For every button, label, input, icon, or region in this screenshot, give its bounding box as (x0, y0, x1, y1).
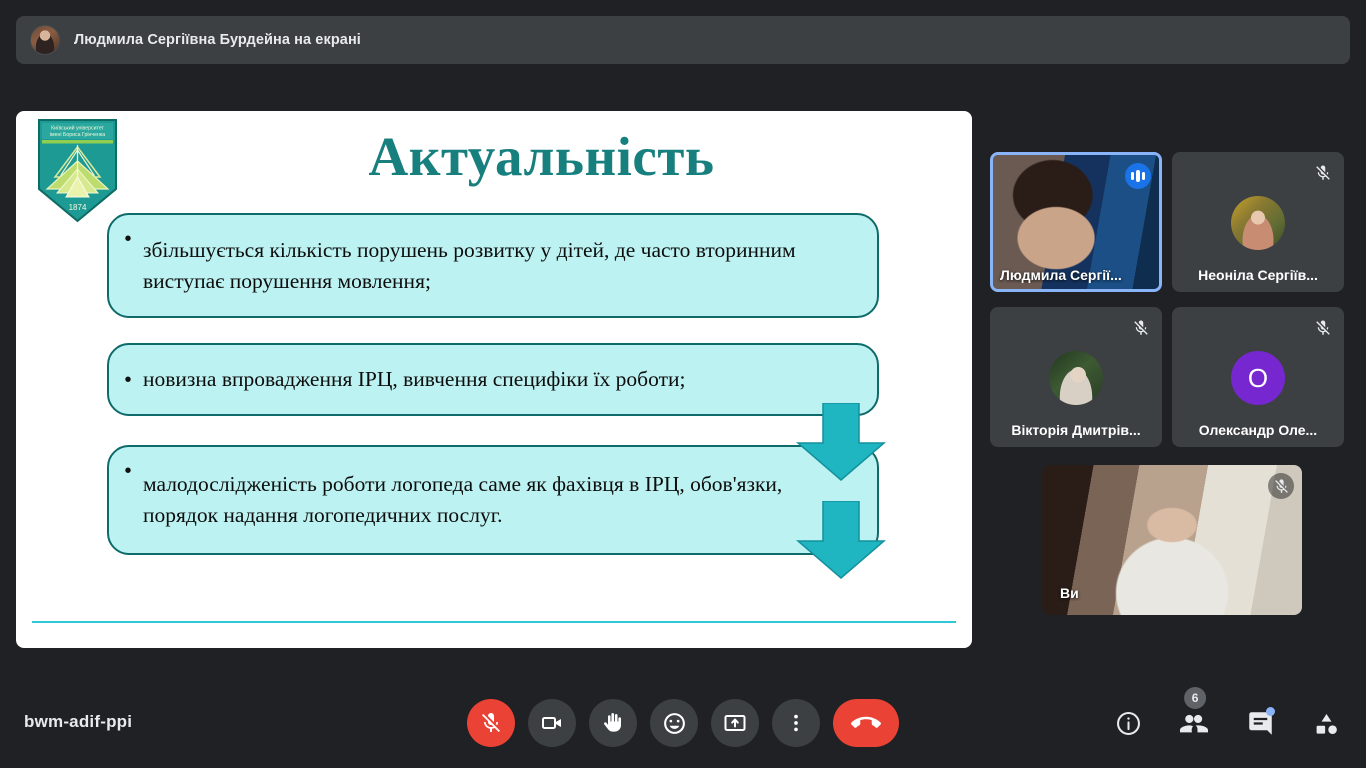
slide-divider (32, 621, 956, 623)
slide-bullet-box-1: • збільшується кількість порушень розвит… (107, 213, 879, 318)
bullet-marker-icon: • (119, 229, 137, 249)
mic-off-icon (1310, 315, 1336, 341)
participant-tile-viktoriia[interactable]: Вікторія Дмитрів... (990, 307, 1162, 447)
chat-icon[interactable] (1238, 701, 1282, 745)
hangup-icon (851, 708, 881, 738)
slide-bullet-text-3: малодослідженість роботи логопеда саме я… (137, 469, 859, 530)
slide-title: Актуальність (16, 125, 972, 188)
avatar (1049, 351, 1103, 405)
google-meet-window: Людмила Сергіївна Бурдейна на екрані Киї… (0, 0, 1366, 768)
more-options-button[interactable] (772, 699, 820, 747)
mic-off-icon (479, 711, 503, 735)
down-arrow-icon (796, 501, 886, 579)
presenter-avatar (30, 25, 60, 55)
slide-bullet-text-1: збільшується кількість порушень розвитку… (137, 235, 859, 296)
avatar (1231, 196, 1285, 250)
participant-name: Олександр Оле... (1172, 422, 1344, 438)
mic-off-icon (1128, 315, 1154, 341)
call-controls-bar (467, 699, 899, 747)
bullet-marker-icon: • (119, 370, 137, 390)
microphone-off-button[interactable] (467, 699, 515, 747)
present-screen-button[interactable] (711, 699, 759, 747)
slide-bullet-box-2: • новизна впровадження ІРЦ, вивчення спе… (107, 343, 879, 416)
presenting-banner-text: Людмила Сергіївна Бурдейна на екрані (74, 32, 361, 48)
bullet-marker-icon: • (119, 461, 137, 481)
mic-off-icon (1268, 473, 1294, 499)
audio-level-icon (1125, 163, 1151, 189)
participant-name: Вікторія Дмитрів... (990, 422, 1162, 438)
reactions-button[interactable] (650, 699, 698, 747)
participant-tile-neonila[interactable]: Неоніла Сергіїв... (1172, 152, 1344, 292)
participant-tile-oleksandr[interactable]: О Олександр Оле... (1172, 307, 1344, 447)
end-call-button[interactable] (833, 699, 899, 747)
emoji-icon (662, 711, 687, 736)
activities-icon[interactable] (1304, 701, 1348, 745)
camera-off-button[interactable] (528, 699, 576, 747)
mic-off-icon (1310, 160, 1336, 186)
shared-screen-slide[interactable]: Київський університет імені Бориса Грінч… (16, 111, 972, 648)
camera-icon (540, 711, 564, 735)
self-view-tile[interactable]: Ви (1042, 465, 1302, 615)
logo-year: 1874 (69, 203, 87, 212)
participant-name: Людмила Сергії... (993, 267, 1159, 283)
more-vertical-icon (785, 712, 807, 734)
avatar-initial: О (1231, 351, 1285, 405)
footer-right-icons: 6 (1106, 701, 1348, 745)
people-icon[interactable]: 6 (1172, 701, 1216, 745)
participant-count-badge: 6 (1184, 687, 1206, 709)
participant-tile-ludmyla[interactable]: Людмила Сергії... (990, 152, 1162, 292)
hand-icon (601, 711, 625, 735)
participant-name: Неоніла Сергіїв... (1172, 267, 1344, 283)
self-view-label: Ви (1042, 585, 1302, 601)
meeting-code: bwm-adif-ppi (24, 712, 132, 732)
presenting-banner: Людмила Сергіївна Бурдейна на екрані (16, 16, 1350, 64)
present-screen-icon (723, 711, 747, 735)
meeting-details-icon[interactable] (1106, 701, 1150, 745)
slide-bullet-box-3: • малодослідженість роботи логопеда саме… (107, 445, 879, 555)
down-arrow-icon (796, 403, 886, 481)
slide-bullet-text-2: новизна впровадження ІРЦ, вивчення специ… (137, 364, 685, 395)
chat-notification-dot (1266, 707, 1275, 716)
raise-hand-button[interactable] (589, 699, 637, 747)
